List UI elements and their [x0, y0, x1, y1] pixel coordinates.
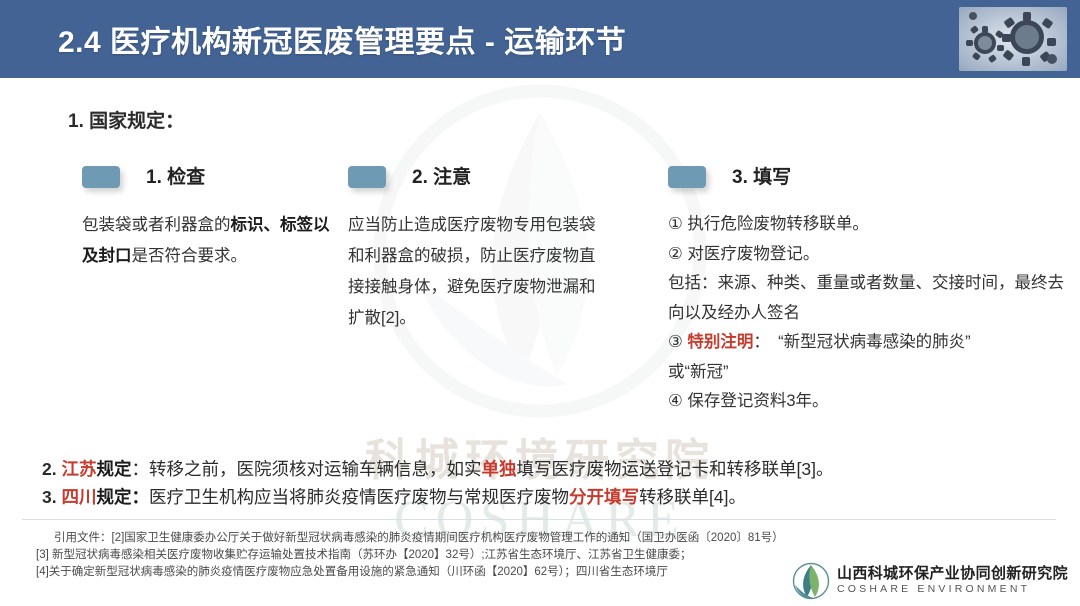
province-rule-sichuan: 3. 四川规定：医疗卫生机构应当将肺炎疫情医疗废物与常规医疗废物分开填写转移联单…	[42, 484, 746, 509]
province-rule-text: 江苏规定：转移之前，医院须核对运输车辆信息，如实单独填写医疗废物运送登记卡和转移…	[61, 459, 833, 479]
column-caution: 2. 注意 应当防止造成医疗废物专用包装袋和利器盒的破损，防止医疗废物直接接触身…	[348, 162, 598, 334]
corporate-name-cn: 山西科城环保产业协同创新研究院	[837, 566, 1068, 582]
section-label-national-rules: 1. 国家规定：	[68, 106, 184, 133]
column-header: 1. 检查	[82, 162, 330, 196]
column-body: 应当防止造成医疗废物专用包装袋和利器盒的破损，防止医疗废物直接接触身体，避免医疗…	[348, 210, 598, 334]
footer-divider	[22, 519, 1056, 520]
province-rule-jiangsu: 2. 江苏规定：转移之前，医院须核对运输车辆信息，如实单独填写医疗废物运送登记卡…	[42, 456, 833, 481]
page-title: 2.4 医疗机构新冠医废管理要点 - 运输环节	[58, 17, 626, 61]
column-title: 2. 注意	[412, 162, 471, 189]
coronavirus-photo	[959, 7, 1067, 71]
province-rule-number: 3.	[42, 487, 57, 507]
corporate-name-en: COSHARE ENVIRONMENT	[837, 584, 1068, 595]
column-header: 2. 注意	[348, 162, 598, 196]
slide-canvas: 科城环境研究院 COSHARE 2.4 医疗机构新冠医废管理要点 - 运输环节	[0, 0, 1080, 606]
corporate-logo: 山西科城环保产业协同创新研究院 COSHARE ENVIRONMENT	[792, 562, 1068, 600]
slide-header-bar: 2.4 医疗机构新冠医废管理要点 - 运输环节	[0, 0, 1080, 78]
column-inspection: 1. 检查 包装袋或者利器盒的标识、标签以及封口是否符合要求。	[82, 162, 330, 272]
column-title: 3. 填写	[732, 162, 791, 189]
column-recording: 3. 填写 ① 执行危险废物转移联单。② 对医疗废物登记。包括：来源、种类、重量…	[668, 162, 1068, 417]
province-rule-number: 2.	[42, 459, 57, 479]
reference-item: 引用文件：[2]国家卫生健康委办公厅关于做好新型冠状病毒感染的肺炎疫情期间医疗机…	[36, 530, 976, 547]
column-body: ① 执行危险废物转移联单。② 对医疗废物登记。包括：来源、种类、重量或者数量、交…	[668, 210, 1068, 417]
bullet-square-icon	[348, 166, 386, 188]
bullet-square-icon	[668, 166, 706, 188]
column-title: 1. 检查	[146, 162, 205, 189]
slide-body: 1. 国家规定： 1. 检查 包装袋或者利器盒的标识、标签以及封口是否符合要求。…	[0, 78, 1080, 606]
province-rule-text: 四川规定：医疗卫生机构应当将肺炎疫情医疗废物与常规医疗废物分开填写转移联单[4]…	[61, 487, 745, 507]
leaf-droplet-logo-icon	[792, 562, 830, 600]
column-body: 包装袋或者利器盒的标识、标签以及封口是否符合要求。	[82, 210, 330, 272]
corporate-logo-text: 山西科城环保产业协同创新研究院 COSHARE ENVIRONMENT	[837, 566, 1068, 596]
column-header: 3. 填写	[668, 162, 1068, 196]
bullet-square-icon	[82, 166, 120, 188]
